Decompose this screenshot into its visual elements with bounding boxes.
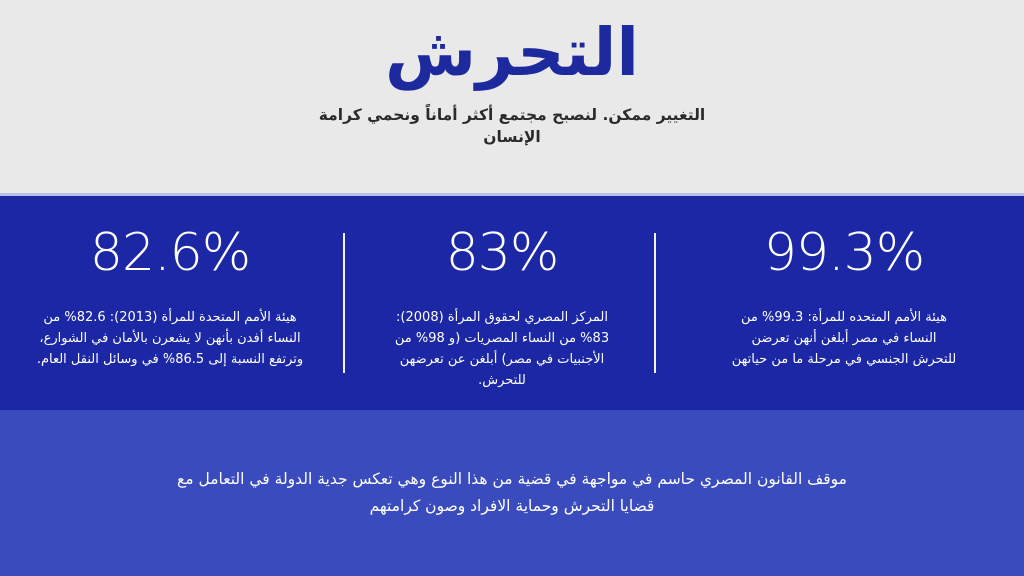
stat-card-82-6: 82.6% هيئة الأمم المتحدة للمرأة (2013): … xyxy=(0,196,340,410)
infographic-slide: التحرش التغيير ممكن. لنصبح مجتمع أكثر أم… xyxy=(0,0,1024,576)
stat-card-83: 83% المركز المصري لحقوق المرأة (2008): 8… xyxy=(347,196,657,410)
stat-description: المركز المصري لحقوق المرأة (2008): 83% م… xyxy=(388,307,616,391)
footer-band: موقف القانون المصري حاسم في مواجهة في قض… xyxy=(0,410,1024,576)
stat-card-99-3: 99.3% هيئة الأمم المتحده للمرأة: 99.3% م… xyxy=(664,196,1024,410)
stat-description: هيئة الأمم المتحدة للمرأة (2013): 82.6% … xyxy=(34,307,306,370)
header-band: التحرش التغيير ممكن. لنصبح مجتمع أكثر أم… xyxy=(0,0,1024,196)
stat-divider-left xyxy=(343,233,345,373)
statistics-band: 82.6% هيئة الأمم المتحدة للمرأة (2013): … xyxy=(0,196,1024,410)
stat-divider-right xyxy=(654,233,656,373)
stat-description: هيئة الأمم المتحده للمرأة: 99.3% من النس… xyxy=(728,307,960,370)
stat-value: 82.6% xyxy=(90,226,250,281)
stat-value: 99.3% xyxy=(764,226,924,281)
page-title: التحرش xyxy=(385,16,639,90)
page-subtitle: التغيير ممكن. لنصبح مجتمع أكثر أماناً ون… xyxy=(302,104,722,149)
statistics-row: 82.6% هيئة الأمم المتحدة للمرأة (2013): … xyxy=(0,196,1024,410)
stat-value: 83% xyxy=(446,226,559,281)
footer-statement: موقف القانون المصري حاسم في مواجهة في قض… xyxy=(162,466,862,519)
